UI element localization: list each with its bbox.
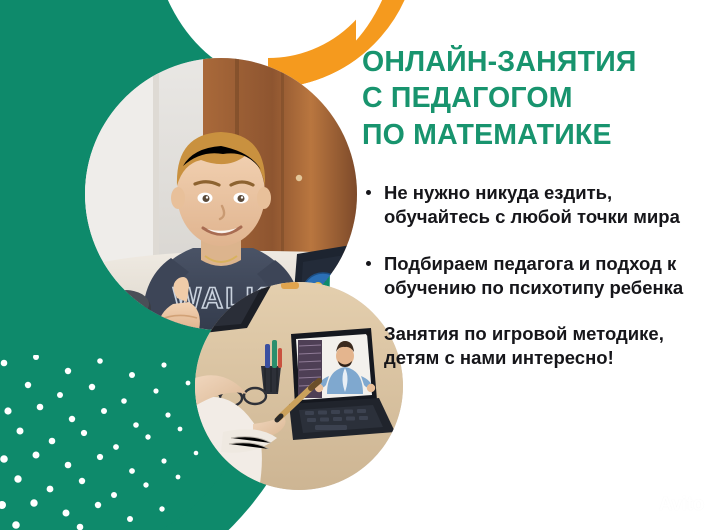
dot-pattern bbox=[0, 355, 220, 530]
benefits-list: Не нужно никуда ездить, обучайтесь с люб… bbox=[362, 181, 692, 369]
bullet-dot-icon bbox=[366, 261, 371, 266]
list-item-text: Занятия по игровой методике, детям с нам… bbox=[384, 323, 664, 368]
list-item-text: Подбираем педагога и подход к обучению п… bbox=[384, 253, 683, 298]
poster-content: ОНЛАЙН-ЗАНЯТИЯ С ПЕДАГОГОМ ПО МАТЕМАТИКЕ… bbox=[362, 44, 692, 370]
avito-watermark-label: Avito bbox=[659, 494, 704, 516]
list-item-text: Не нужно никуда ездить, обучайтесь с люб… bbox=[384, 182, 680, 227]
list-item: Занятия по игровой методике, детям с нам… bbox=[362, 322, 692, 370]
list-item: Не нужно никуда ездить, обучайтесь с люб… bbox=[362, 181, 692, 229]
page-title: ОНЛАЙН-ЗАНЯТИЯ С ПЕДАГОГОМ ПО МАТЕМАТИКЕ bbox=[362, 44, 692, 153]
avito-dots-icon bbox=[637, 497, 654, 514]
avito-watermark: Avito bbox=[637, 494, 704, 516]
bullet-dot-icon bbox=[366, 190, 371, 195]
list-item: Подбираем педагога и подход к обучению п… bbox=[362, 252, 692, 300]
promo-poster: WALK bbox=[0, 0, 720, 530]
bullet-dot-icon bbox=[366, 331, 371, 336]
